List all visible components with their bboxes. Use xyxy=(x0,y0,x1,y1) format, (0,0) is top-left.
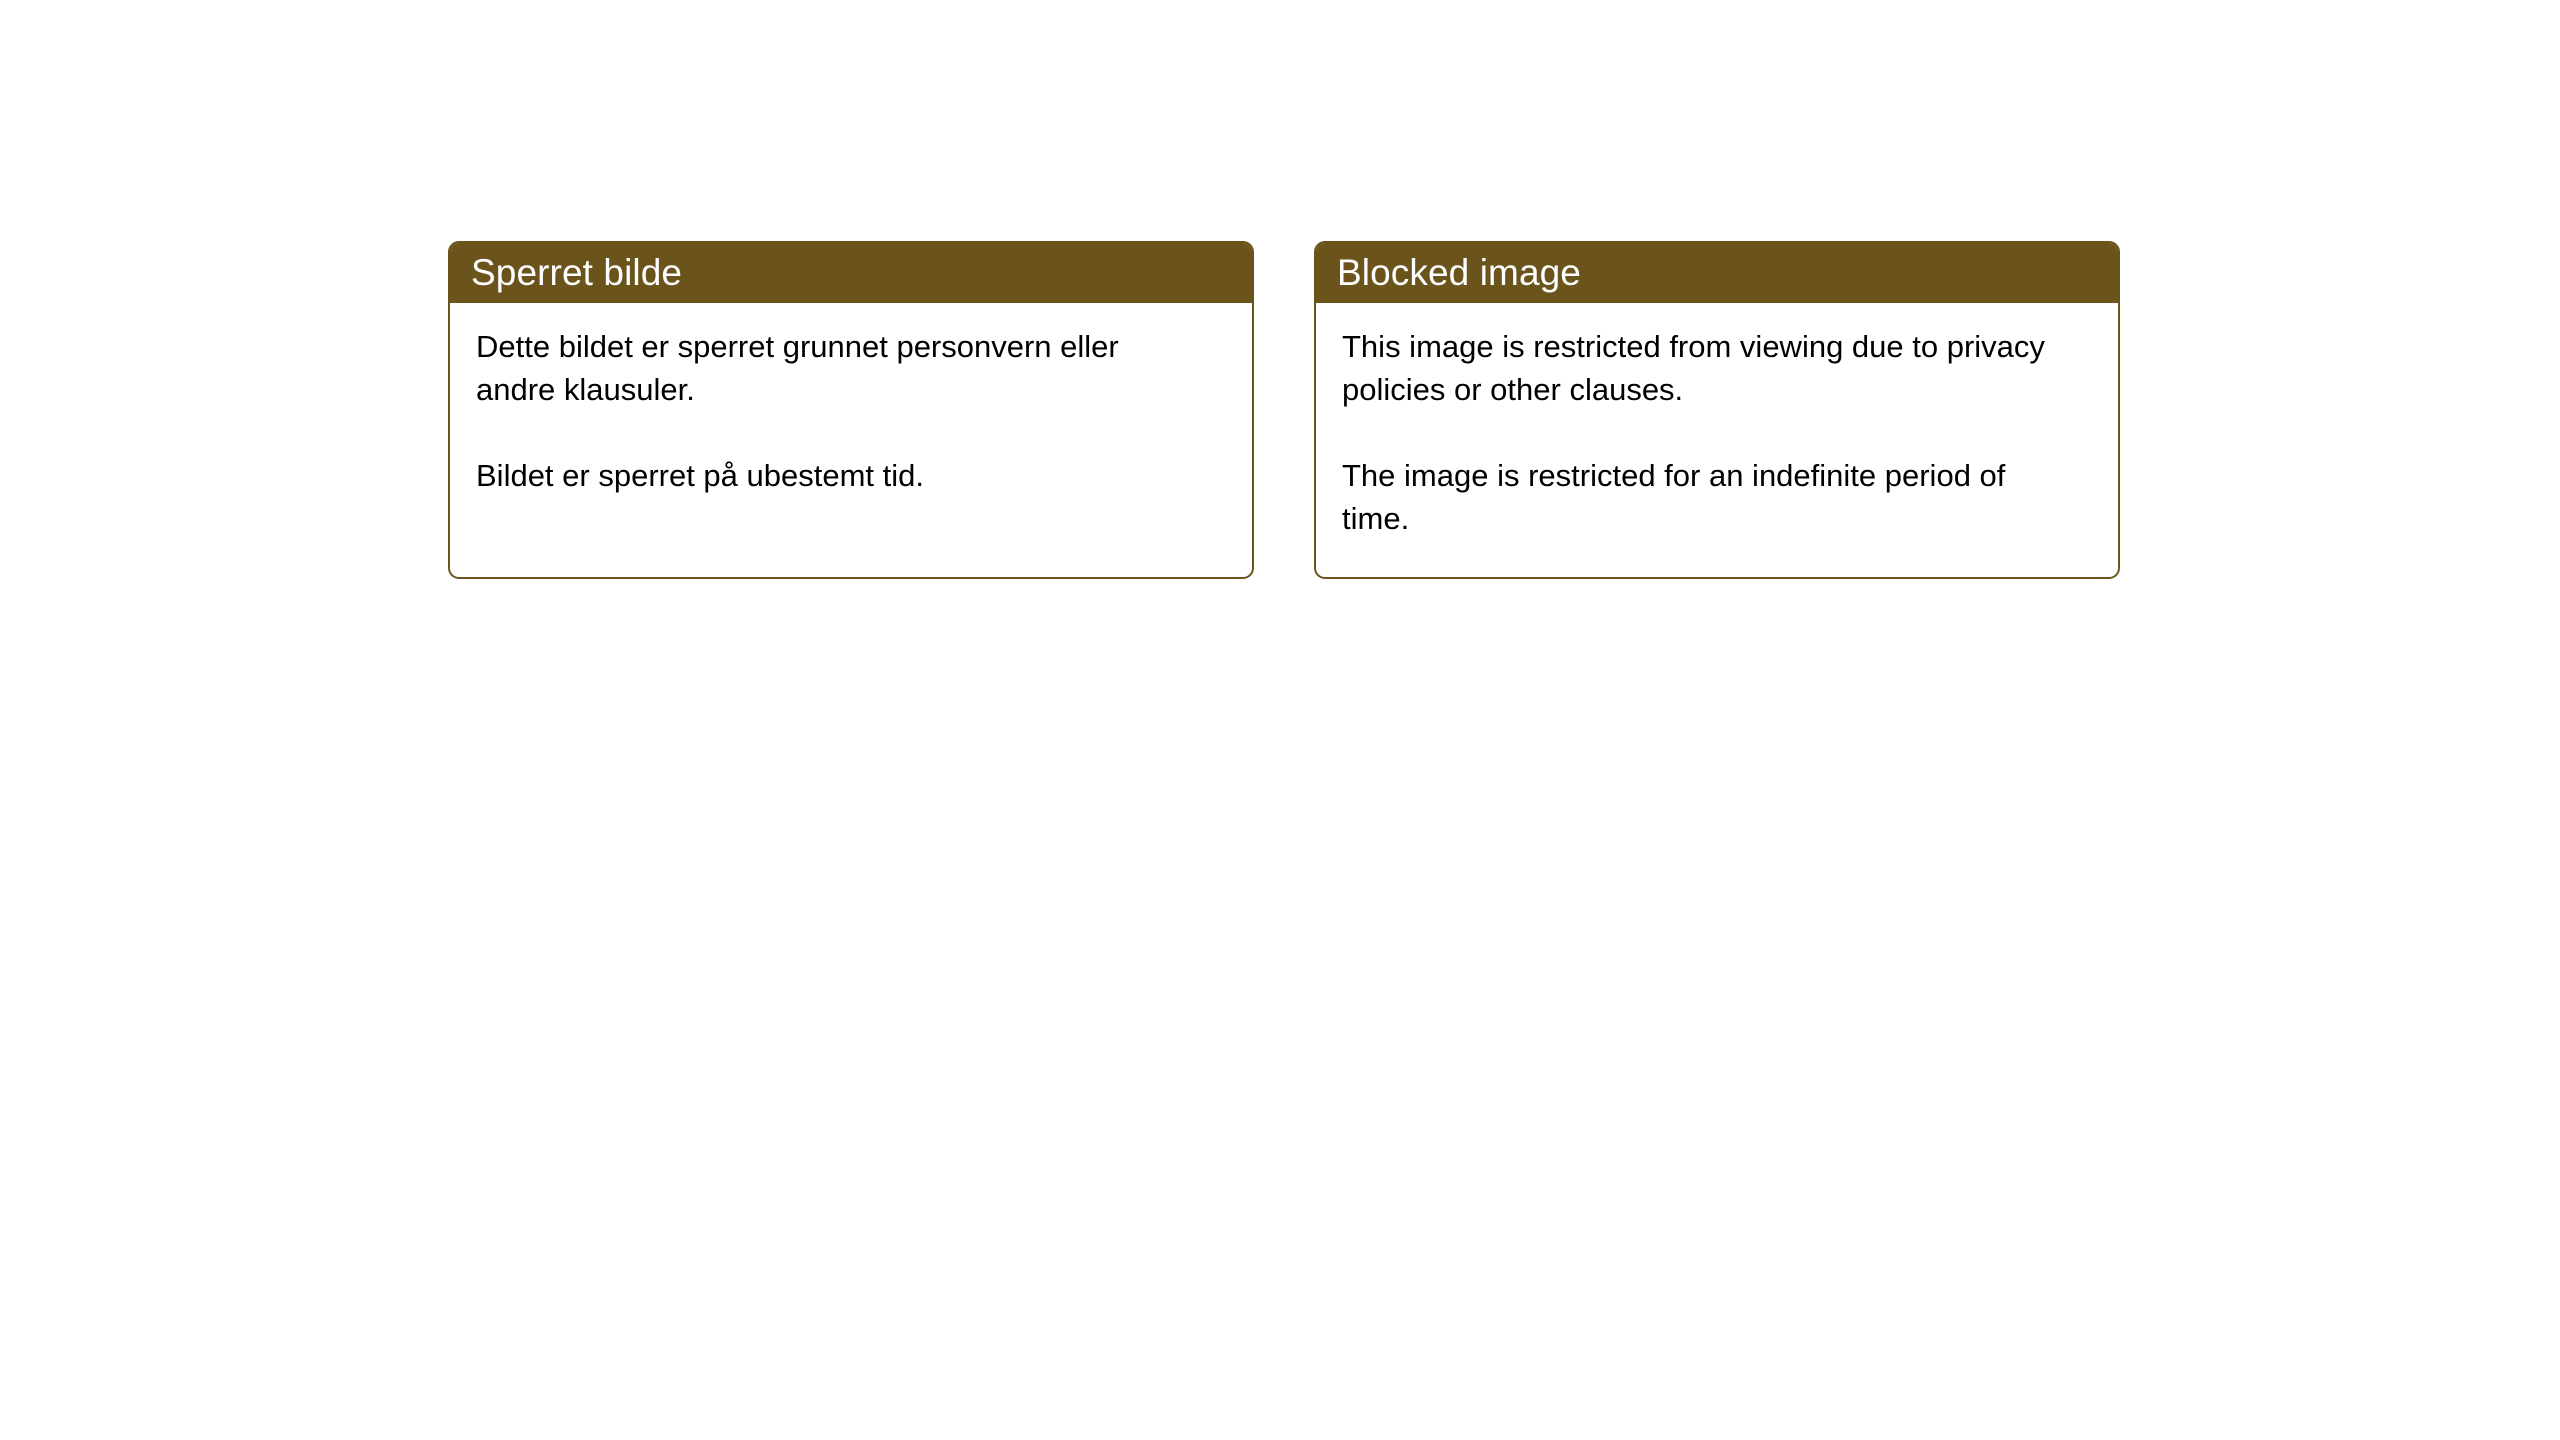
card-body-english: This image is restricted from viewing du… xyxy=(1316,303,2118,560)
card-header-english: Blocked image xyxy=(1315,242,2119,303)
blocked-image-card-english: Blocked image This image is restricted f… xyxy=(1314,241,2120,579)
card-body-norwegian: Dette bildet er sperret grunnet personve… xyxy=(450,303,1252,517)
card-title-norwegian: Sperret bilde xyxy=(471,254,682,291)
card-paragraph-reason-english: This image is restricted from viewing du… xyxy=(1342,325,2062,411)
blocked-image-card-norwegian: Sperret bilde Dette bildet er sperret gr… xyxy=(448,241,1254,579)
card-paragraph-duration-english: The image is restricted for an indefinit… xyxy=(1342,454,2062,540)
blocked-image-page: { "page": { "background_color": "#ffffff… xyxy=(0,0,2560,1440)
card-paragraph-duration-norwegian: Bildet er sperret på ubestemt tid. xyxy=(476,454,1196,497)
card-title-english: Blocked image xyxy=(1337,254,1581,291)
card-paragraph-reason-norwegian: Dette bildet er sperret grunnet personve… xyxy=(476,325,1196,411)
card-header-norwegian: Sperret bilde xyxy=(449,242,1253,303)
